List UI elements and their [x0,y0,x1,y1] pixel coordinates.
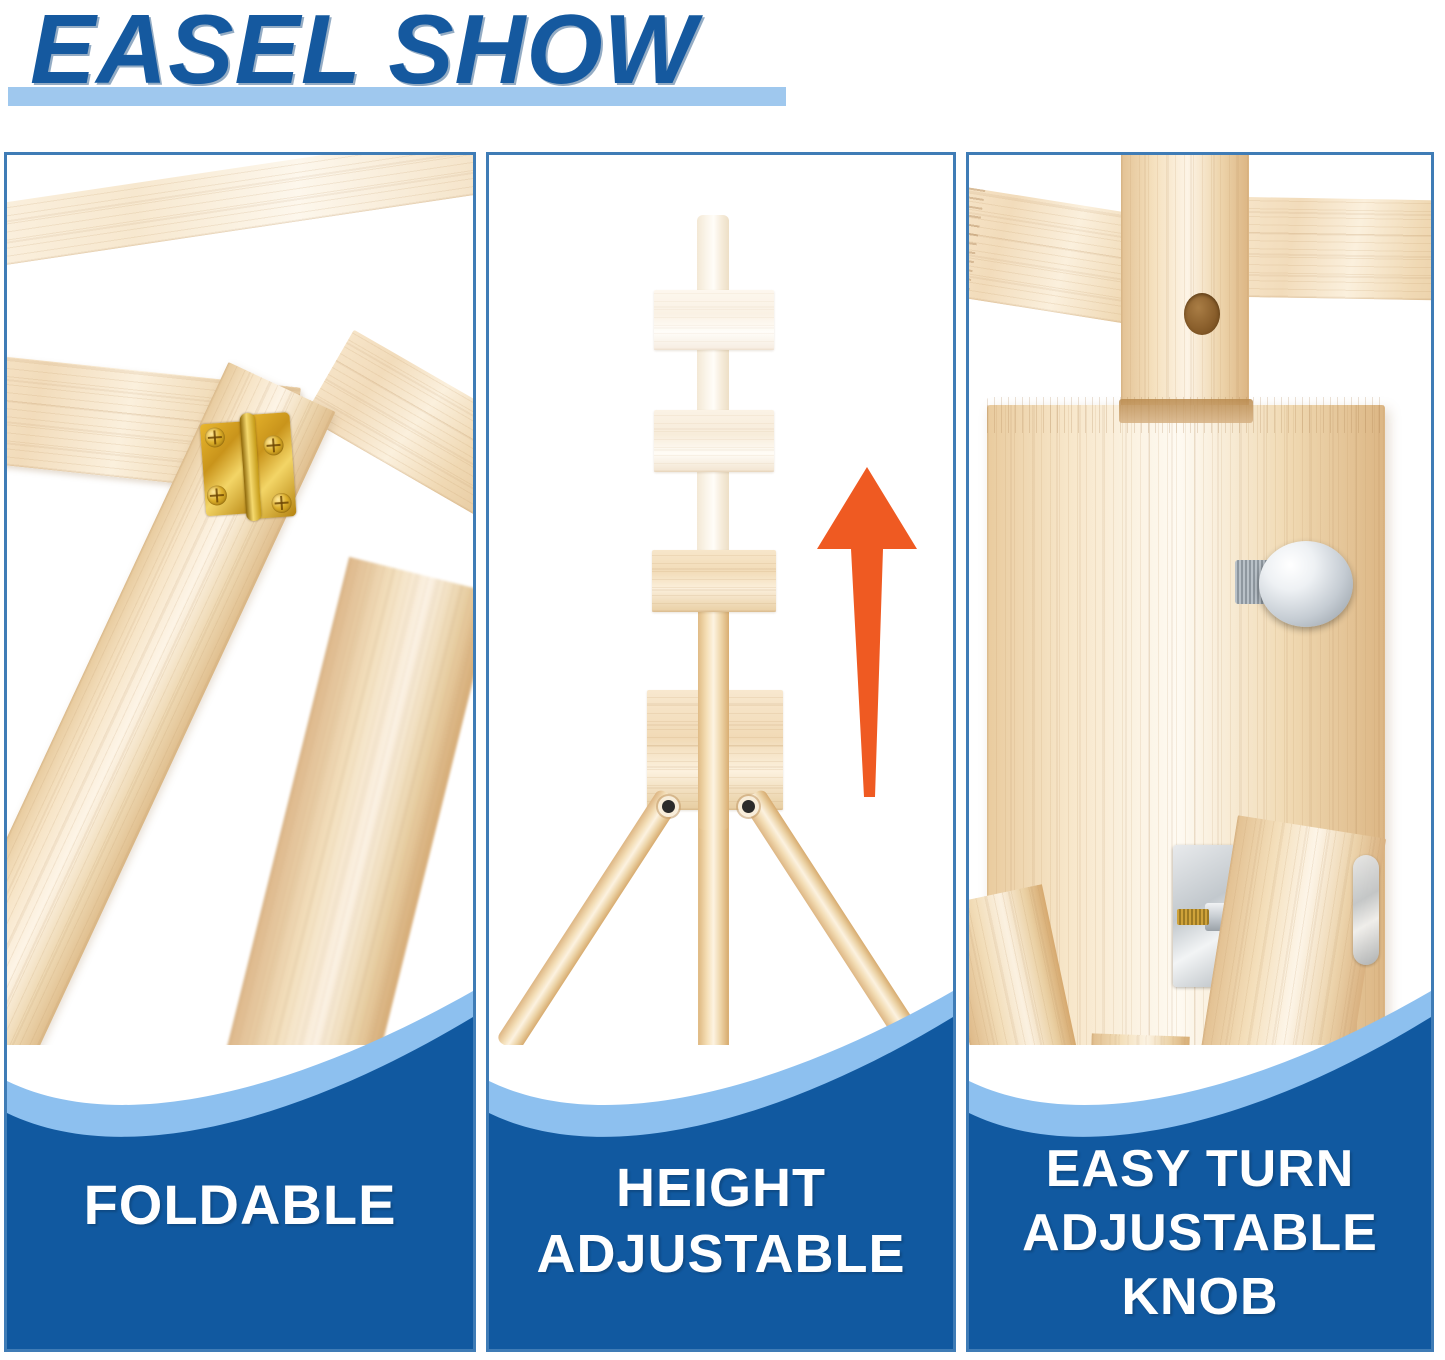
brass-hinge [199,408,303,526]
panel-caption-adjustable-knob: EASY TURN ADJUSTABLE KNOB [969,1137,1431,1329]
photo-adjustable-knob [969,155,1431,1045]
caption-line: KNOB [979,1265,1421,1329]
caption-line: ADJUSTABLE [499,1221,943,1287]
wood-beam-background [214,557,473,1045]
wood-grain [7,155,473,269]
photo-foldable-hinge [7,155,473,1045]
feature-panel-strip: FOLDABLE [0,152,1445,1360]
adjustable-knob[interactable] [1259,541,1353,627]
caption-line: ADJUSTABLE [979,1201,1421,1265]
wood-grain [654,290,774,350]
mast-slot [1119,399,1253,423]
wood-grain [214,557,473,1045]
crossbar-position-middle [654,410,774,472]
page-header: EASEL SHOW [0,0,1445,150]
wood-grain [654,410,774,472]
caption-line: FOLDABLE [17,1173,463,1237]
leg-pivot-hole-left [662,800,675,813]
panel-caption-foldable: FOLDABLE [7,1173,473,1237]
mast-front-segment [698,680,729,830]
leg-pivot-hole-right [742,800,755,813]
wood-grain [1244,197,1431,301]
photo-height-adjustable-mast [489,155,953,1045]
panel-footer-foldable: FOLDABLE [7,989,473,1349]
feature-panel-foldable[interactable]: FOLDABLE [4,152,476,1352]
bracket-far-side [1353,855,1379,965]
panel-footer-height-adjustable: HEIGHT ADJUSTABLE [489,989,953,1349]
feature-panel-adjustable-knob[interactable]: EASY TURN ADJUSTABLE KNOB [966,152,1434,1352]
wood-beam-top [7,155,473,269]
page-title: EASEL SHOW [30,0,697,104]
wood-beam-right-upper [304,330,473,522]
wood-grain [652,550,776,612]
peg-hole [1184,293,1220,335]
caption-line: EASY TURN [979,1137,1421,1201]
wood-grain [304,330,473,522]
bracket-bolt-thread [1177,909,1209,925]
wood-tray-arm-right [1244,197,1431,301]
wave-shape [7,989,473,1349]
mast-vertical [1121,155,1249,415]
feature-panel-height-adjustable[interactable]: HEIGHT ADJUSTABLE [486,152,956,1352]
panel-caption-height-adjustable: HEIGHT ADJUSTABLE [489,1155,953,1287]
crossbar-position-top [654,290,774,350]
up-arrow-icon [807,461,927,801]
panel-footer-adjustable-knob: EASY TURN ADJUSTABLE KNOB [969,989,1431,1349]
caption-line: HEIGHT [499,1155,943,1221]
wood-grain [1121,155,1249,415]
crossbar-position-lower [652,550,776,612]
